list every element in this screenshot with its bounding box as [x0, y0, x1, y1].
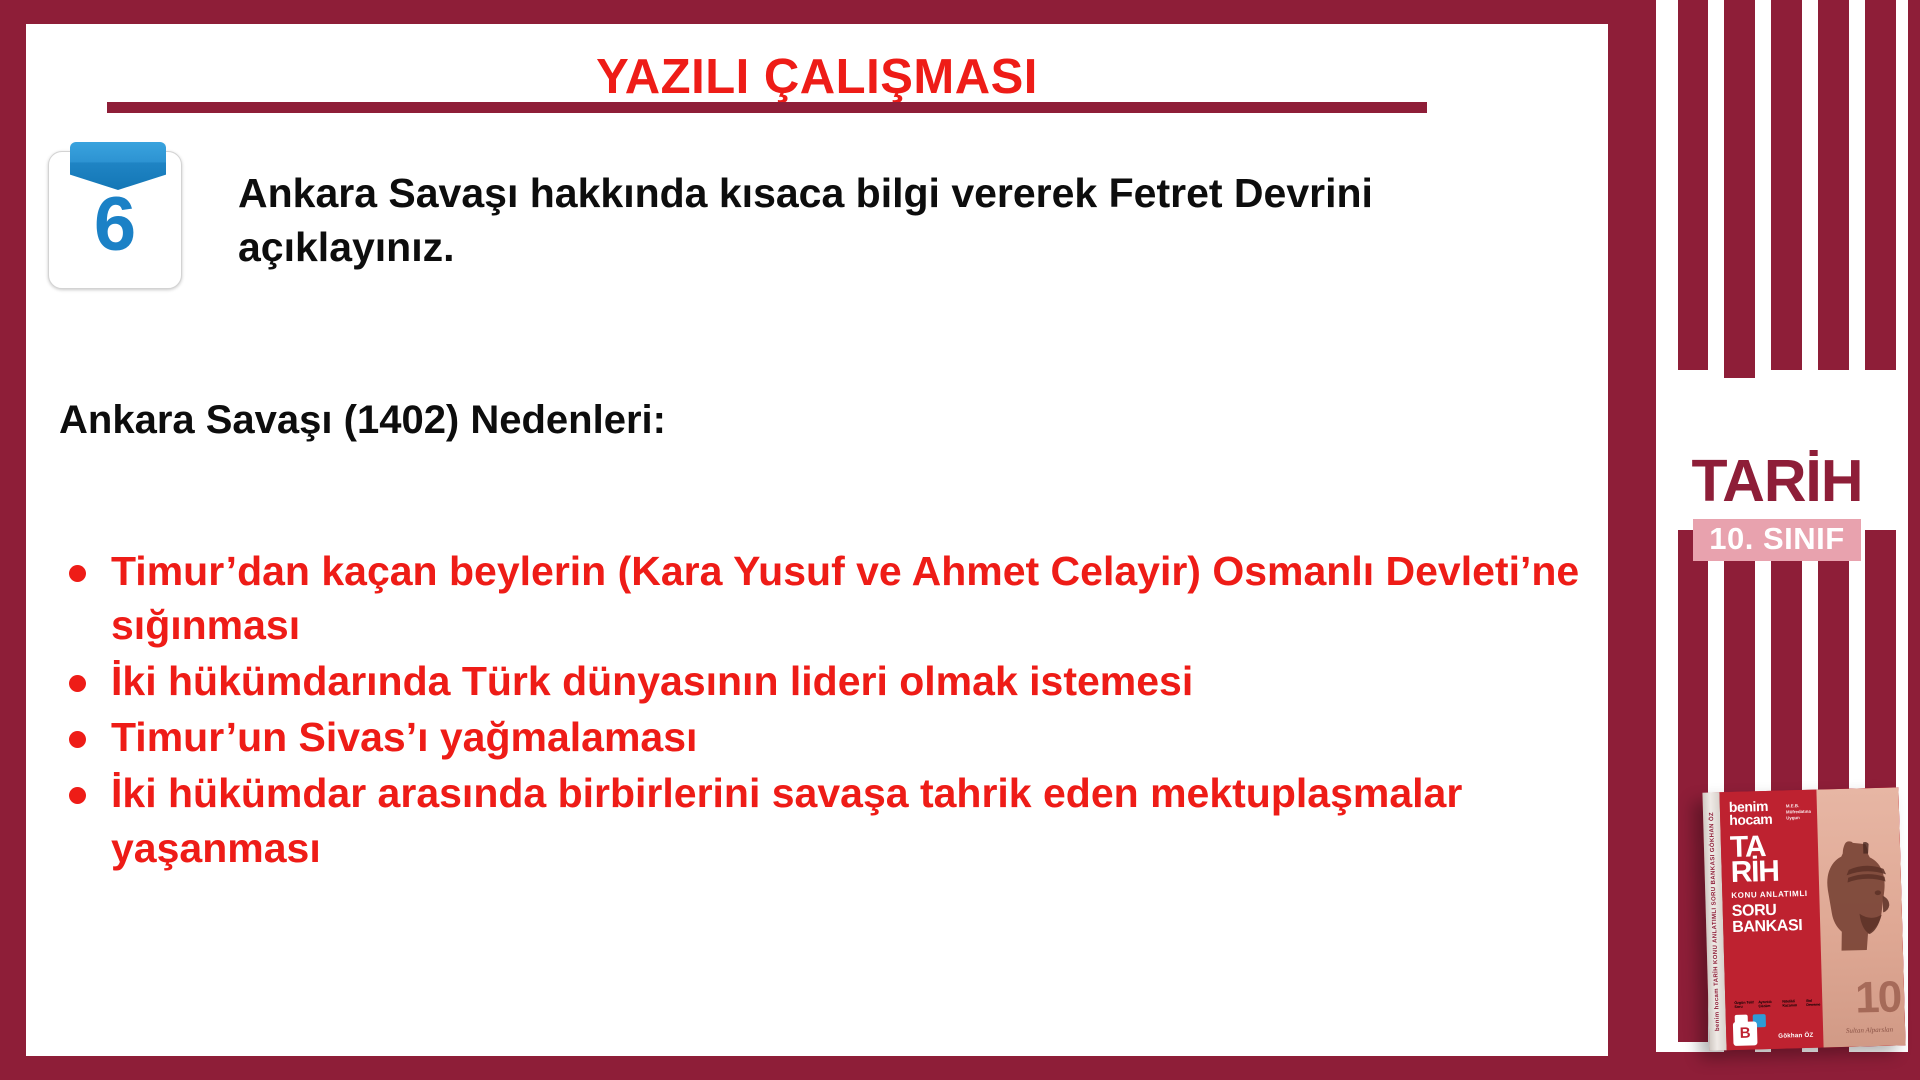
book-front: benim hocam M.E.B. Müfredatına Uygun TA …	[1719, 787, 1905, 1050]
book-feature: Özgün Telif Soru	[1734, 1000, 1754, 1010]
slide-canvas: YAZILI ÇALIŞMASI 6 Ankara Savaşı hakkınd…	[0, 0, 1920, 1080]
book-cover-image: benim hocam TARİH KONU ANLATIMLI SORU BA…	[1702, 787, 1905, 1050]
book-feature: Ayrıntılı Çözüm	[1758, 999, 1778, 1009]
book-bankasi: BANKASI	[1732, 917, 1818, 935]
bullet-dot-icon	[69, 731, 86, 748]
stripe-decor	[1678, 530, 1708, 1042]
book-publisher-logo-icon: B	[1733, 1021, 1758, 1046]
brand-grade: 10. SINIF	[1693, 519, 1860, 561]
list-item-label: İki hükümdar arasında birbirlerini savaş…	[111, 770, 1462, 870]
list-item-label: İki hükümdarında Türk dünyasının lideri …	[111, 658, 1193, 704]
book-subject-line2: RİH	[1730, 858, 1816, 886]
book-spine-label: benim hocam TARİH KONU ANLATIMLI SORU BA…	[1708, 812, 1720, 1031]
calendar-icon: 6	[48, 151, 182, 289]
book-signature: Sultan Alparslan	[1846, 1026, 1893, 1035]
book-publisher-note: M.E.B. Müfredatına Uygun	[1786, 803, 1821, 822]
book-soru-bankasi: SORU BANKASI	[1732, 902, 1818, 935]
title-divider	[107, 102, 1427, 113]
content-card: YAZILI ÇALIŞMASI 6 Ankara Savaşı hakkınd…	[26, 24, 1608, 1056]
book-konu-anlatimli: KONU ANLATIMLI	[1731, 889, 1816, 900]
sultan-portrait-icon	[1825, 816, 1905, 978]
book-subject: TA RİH	[1730, 832, 1817, 886]
bullet-dot-icon	[69, 675, 86, 692]
list-item-label: Timur’un Sivas’ı yağmalaması	[111, 714, 697, 760]
bottom-band-decor	[1634, 1052, 1920, 1080]
list-item: Timur’un Sivas’ı yağmalaması	[59, 710, 1604, 764]
book-feature: Nitelikli Kazanım	[1782, 999, 1802, 1009]
book-grade-number: 10	[1855, 975, 1901, 1020]
stripe-decor	[1771, 0, 1802, 360]
list-item-label: Timur’dan kaçan beylerin (Kara Yusuf ve …	[111, 548, 1579, 648]
book-text-panel: benim hocam M.E.B. Müfredatına Uygun TA …	[1719, 790, 1826, 1051]
brand-block: TARİH 10. SINIF	[1634, 452, 1920, 561]
brand-subject: TARİH	[1634, 452, 1920, 511]
list-item: İki hükümdarında Türk dünyasının lideri …	[59, 654, 1604, 708]
bullet-dot-icon	[69, 565, 86, 582]
list-item: Timur’dan kaçan beylerin (Kara Yusuf ve …	[59, 544, 1604, 652]
book-feature: Bol Deneme	[1806, 998, 1826, 1008]
answer-heading: Ankara Savaşı (1402) Nedenleri:	[59, 396, 666, 444]
question-text: Ankara Savaşı hakkında kısaca bilgi vere…	[238, 166, 1598, 274]
question-number: 6	[48, 187, 182, 263]
page-title: YAZILI ÇALIŞMASI	[26, 52, 1608, 103]
reasons-list: Timur’dan kaçan beylerin (Kara Yusuf ve …	[59, 544, 1604, 877]
brand-sidebar: TARİH 10. SINIF benim hocam TARİH KONU A…	[1634, 0, 1920, 1080]
bullet-dot-icon	[69, 787, 86, 804]
book-author: Gökhan ÖZ	[1778, 1032, 1813, 1040]
content-frame-border: YAZILI ÇALIŞMASI 6 Ankara Savaşı hakkınd…	[0, 0, 1634, 1080]
list-item: İki hükümdar arasında birbirlerini savaş…	[59, 766, 1604, 874]
stripe-decor	[1724, 0, 1755, 378]
